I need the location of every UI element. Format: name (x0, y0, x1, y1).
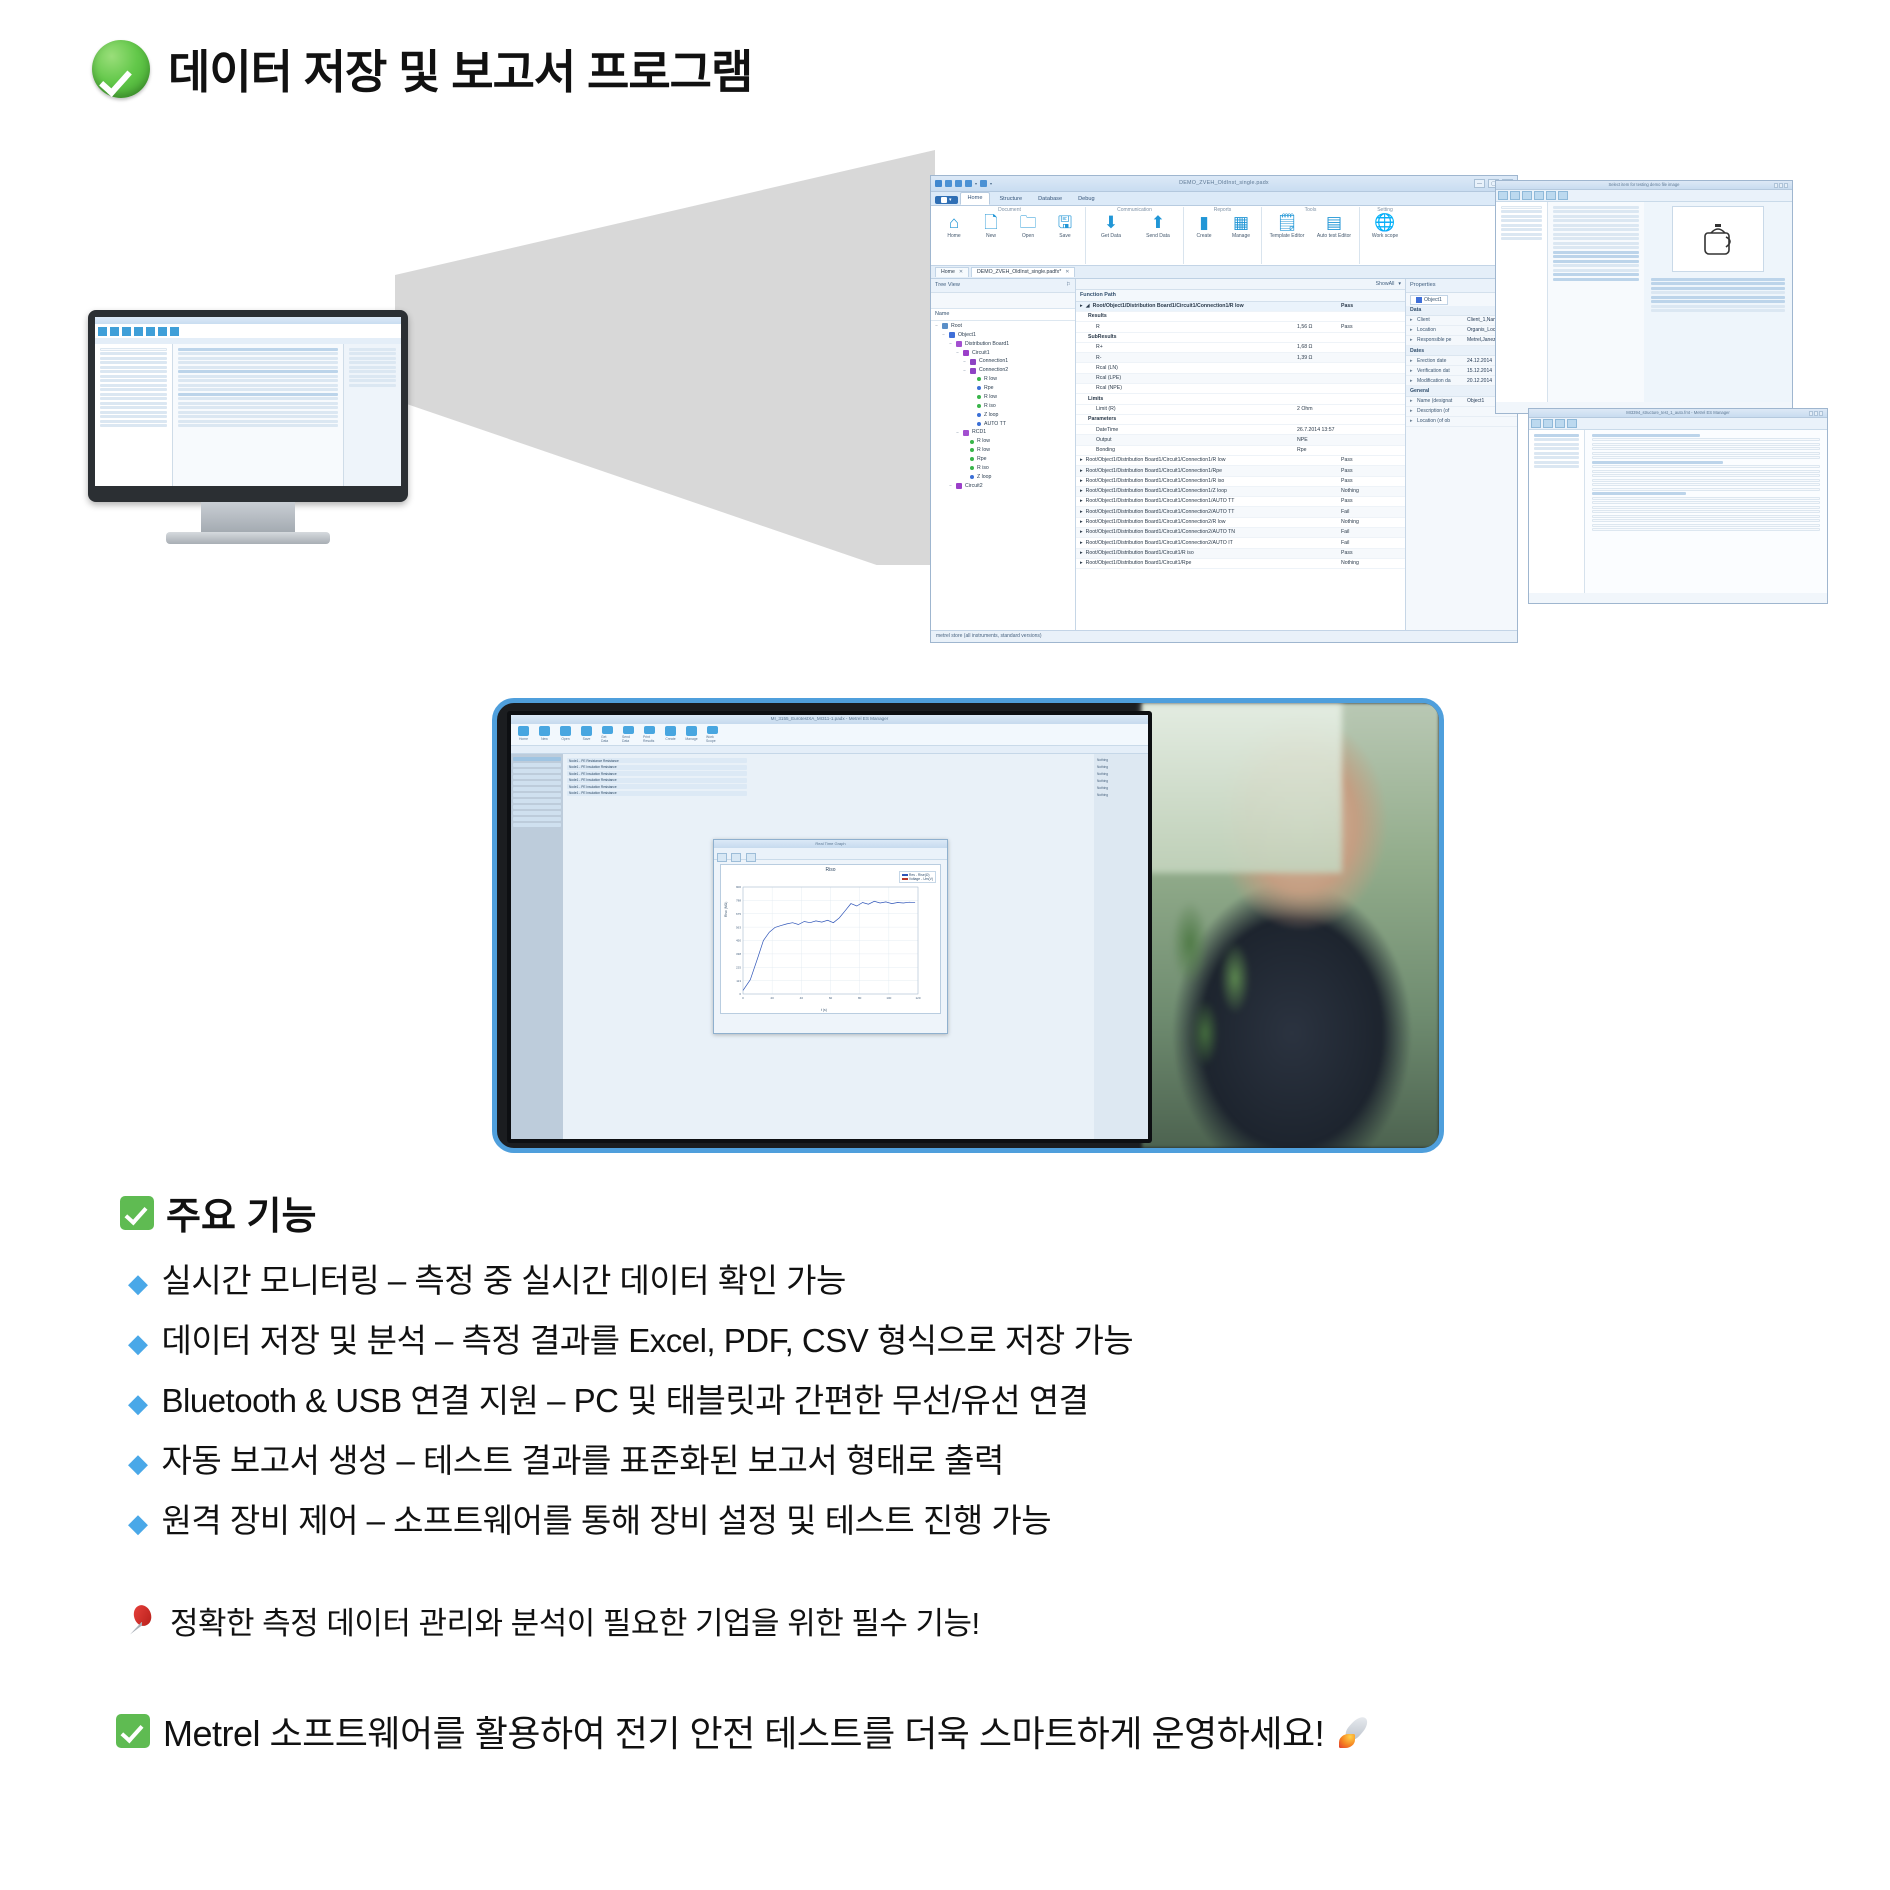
photo-new-button[interactable]: New (538, 726, 551, 743)
manage-grid-icon (686, 726, 697, 736)
close-button[interactable] (1784, 183, 1788, 188)
image-picker-toolbar[interactable] (1496, 190, 1792, 202)
tree-node-label: Connection2 (979, 367, 1008, 374)
open-icon[interactable] (1498, 191, 1508, 200)
tree-node[interactable]: R low (931, 393, 1075, 402)
svg-text:450: 450 (736, 939, 741, 943)
row-expander-icon[interactable]: ▸ (1080, 457, 1083, 464)
tree-view-pane: Tree View ⚐ Name −Root−Object1−Distribut… (931, 279, 1076, 630)
closed-icon[interactable] (1558, 191, 1568, 200)
document-tab-strip[interactable]: Home ✕ DEMO_ZVEH_OldInst_single.padfx* ✕ (931, 266, 1517, 279)
page-title-row: 데이터 저장 및 보고서 프로그램 (92, 36, 752, 102)
detail-row-status (1341, 355, 1401, 362)
create-report-button[interactable]: ▮Create (1188, 214, 1220, 239)
row-status: Fail (1341, 529, 1401, 536)
save-icon[interactable] (1510, 191, 1520, 200)
blue-diamond-icon: ◆ (128, 1390, 148, 1416)
structure-field-list[interactable] (1585, 430, 1827, 593)
structure-tree[interactable] (1529, 430, 1585, 593)
photo-result-item[interactable]: Node1 - PE Insulation Resistance (567, 771, 747, 776)
white-check-mark-icon (120, 1196, 154, 1230)
create-report-icon (665, 726, 676, 736)
new-button-label: New (986, 233, 996, 239)
feature-bullet: ◆데이터 저장 및 분석 – 측정 결과를 Excel, PDF, CSV 형식… (128, 1314, 1890, 1362)
chart-plot-area: Riso Res - Rise(Ω) Voltage - Um(V) 90078… (720, 864, 941, 1014)
table-row[interactable]: ▸Root/Object1/Distribution Board1/Circui… (1076, 559, 1405, 569)
table-row[interactable]: ▸Root/Object1/Distribution Board1/Circui… (1076, 456, 1405, 466)
properties-expander-icon[interactable]: ▸ (1410, 408, 1415, 414)
ribbon-group-document-label: Document (998, 207, 1021, 213)
photo-save-button[interactable]: Save (580, 726, 593, 743)
svg-text:100: 100 (886, 996, 891, 1000)
add-image-icon[interactable] (1534, 191, 1544, 200)
table-row[interactable]: ▸Root/Object1/Distribution Board1/Circui… (1076, 477, 1405, 487)
auto-test-editor-label: Auto test Editor (1317, 233, 1351, 239)
detail-row-status (1341, 406, 1401, 413)
ribbon-toolbar[interactable]: Document ⌂Home 🗋New 🗀Open 🖫Save Communic… (931, 206, 1517, 266)
tree-node-label: Z loop (977, 474, 991, 481)
tree-node-label: Z loop (984, 412, 998, 419)
image-picker-window-controls[interactable] (1774, 183, 1790, 188)
close-button[interactable] (1819, 411, 1823, 416)
app-window-title: DEMO_ZVEH_OldInst_single.padx (931, 180, 1517, 187)
tree-node[interactable]: −Connection1 (931, 357, 1075, 366)
tab-database[interactable]: Database (1031, 194, 1069, 205)
maximize-button[interactable] (1779, 183, 1783, 188)
photo-send-data-button[interactable]: Send Data (622, 726, 635, 743)
download-arrow-icon (602, 726, 613, 734)
photo-open-button[interactable]: Open (559, 726, 572, 743)
tree-expander-icon[interactable]: − (955, 430, 960, 436)
properties-expander-icon[interactable]: ▸ (1410, 368, 1415, 374)
desktop-monitor (88, 310, 408, 540)
tree-pin-icon[interactable]: ⚐ (1066, 282, 1071, 289)
chart-toolbar[interactable] (714, 848, 947, 860)
detail-row-status (1341, 365, 1401, 372)
chart-titlebar: Real Time Graph (714, 840, 947, 848)
tree-node[interactable]: R low (931, 375, 1075, 384)
row-status: Pass (1341, 550, 1401, 557)
detail-section-header: Parameters (1076, 415, 1405, 425)
photo-result-item[interactable]: Node1 - PE Insulation Resistance (567, 778, 747, 783)
legend-swatch-res (902, 874, 908, 876)
features-heading-row: 주요 기능 (120, 1185, 1890, 1240)
table-row[interactable]: ▸Root/Object1/Distribution Board1/Circui… (1076, 507, 1405, 517)
ribbon-group-reports-label: Reports (1214, 207, 1232, 213)
structure-manager-window: MI3394_structure_test_1_auto.fmt - Metre… (1528, 408, 1828, 604)
properties-key: Description (of (1417, 408, 1465, 414)
tree-node[interactable]: R iso (931, 402, 1075, 411)
photo-result-item[interactable]: Node1 - PE Insulation Resistance (567, 765, 747, 770)
maximize-button[interactable] (1814, 411, 1818, 416)
tree-node[interactable]: Z loop (931, 473, 1075, 482)
ribbon-group-communication-label: Communication (1117, 207, 1152, 213)
photo-home-button[interactable]: Home (517, 726, 530, 743)
tree-node-label: Distribution Board1 (965, 341, 1009, 348)
row-path: Root/Object1/Distribution Board1/Circuit… (1086, 498, 1235, 505)
row-status: Nothing (1341, 519, 1401, 526)
row-status: Nothing (1341, 560, 1401, 567)
properties-expander-icon[interactable]: ▸ (1410, 337, 1415, 343)
person-at-desk (1142, 703, 1439, 1148)
monitor-screen (95, 317, 401, 486)
doc-tab-home-close-icon[interactable]: ✕ (959, 269, 963, 275)
minimize-button[interactable]: — (1474, 179, 1485, 188)
photo-status-list: NothingNothingNothingNothingNothingNothi… (1094, 754, 1148, 804)
image-picker-window: Select item for testing demo file image (1495, 180, 1793, 414)
upload-arrow-icon (623, 726, 634, 734)
template-editor-icon: 🗒 (1276, 214, 1298, 232)
photo-status-item: Nothing (1097, 765, 1145, 769)
pass-dot-icon (977, 395, 981, 399)
note-row: 정확한 측정 데이터 관리와 분석이 필요한 기업을 위한 필수 기능! (128, 1598, 1890, 1643)
tree-view-title: Tree View (935, 282, 960, 289)
photo-status-item: Nothing (1097, 793, 1145, 797)
detail-row-value (1297, 365, 1341, 372)
detail-row-value: Rpe (1297, 447, 1341, 454)
new-run-data-icon[interactable] (746, 853, 756, 862)
doc-tab-file-label: DEMO_ZVEH_OldInst_single.padfx* (977, 269, 1061, 276)
row-expander-icon[interactable]: ▸ (1080, 529, 1083, 536)
table-row[interactable]: ▸Root/Object1/Distribution Board1/Circui… (1076, 487, 1405, 497)
detail-row-key: Rcal (NPE) (1080, 385, 1297, 392)
blue-diamond-icon: ◆ (128, 1270, 148, 1296)
photo-work-scope-button[interactable]: Work Scope (706, 726, 719, 743)
save-icon[interactable] (731, 853, 741, 862)
tree-node[interactable]: −Object1 (931, 331, 1075, 340)
tree-expander-icon[interactable]: − (941, 332, 946, 338)
file-menu-button[interactable]: ▾ (935, 196, 958, 204)
send-data-label: Send Data (1146, 233, 1170, 239)
table-row[interactable]: ▸Root/Object1/Distribution Board1/Circui… (1076, 528, 1405, 538)
collapse-icon[interactable]: ◢ (1086, 303, 1090, 310)
photo-app-body: Node1 - PE Resistance ResistanceNode1 - … (511, 754, 1148, 1139)
photo-status-item: Nothing (1097, 786, 1145, 790)
row-expander-icon[interactable]: ▸ (1080, 519, 1083, 526)
properties-expander-icon[interactable]: ▸ (1410, 358, 1415, 364)
svg-text:900: 900 (736, 885, 741, 889)
selected-row-path: Root/Object1/Distribution Board1/Circuit… (1093, 303, 1244, 310)
photo-app-ribbon[interactable]: Home New Open Save Get Data Send Data Pr… (511, 724, 1148, 746)
new-document-icon: 🗋 (984, 214, 998, 232)
save-button[interactable]: 🖫Save (1049, 214, 1081, 239)
photo-print-button[interactable]: Print Results (643, 726, 656, 743)
photo-app-titlebar: MI_3155_EurotestXA_MI311-1.padx - Metrel… (511, 715, 1148, 724)
monitor-bezel (88, 310, 408, 502)
row-status: Pass (1341, 498, 1401, 505)
properties-object-tab[interactable]: Object1 (1410, 295, 1448, 306)
row-path: Root/Object1/Distribution Board1/Circuit… (1086, 488, 1227, 495)
image-picker-fields[interactable] (1548, 202, 1644, 402)
results-column-function-path: Function Path (1080, 292, 1341, 299)
tree-filter-box[interactable] (931, 293, 1075, 309)
auto-test-editor-button[interactable]: ▤Auto test Editor (1313, 214, 1355, 239)
row-path: Root/Object1/Distribution Board1/Circuit… (1086, 457, 1226, 464)
properties-key: Verification dat (1417, 368, 1465, 374)
properties-expander-icon[interactable]: ▸ (1410, 378, 1415, 384)
detail-row-value (1297, 375, 1341, 382)
file-menu-icon (941, 197, 947, 203)
globe-icon: 🌐 (1374, 214, 1395, 232)
row-expander-icon[interactable]: ▸ (1080, 488, 1083, 495)
structure-manager-window-controls[interactable] (1809, 411, 1825, 416)
feature-bullet: ◆원격 장비 제어 – 소프트웨어를 통해 장비 설정 및 테스트 진행 가능 (128, 1494, 1890, 1542)
row-status: Pass (1341, 478, 1401, 485)
row-expander-icon[interactable]: ▸ (1080, 560, 1083, 567)
doc-tab-home[interactable]: Home ✕ (935, 267, 969, 277)
tree-expander-icon[interactable]: − (962, 368, 967, 374)
tree-node-list[interactable]: −Root−Object1−Distribution Board1−Circui… (931, 321, 1075, 630)
svg-text:0: 0 (742, 996, 744, 1000)
feature-bullet-text: 자동 보고서 생성 – 테스트 결과를 표준화된 보고서 형태로 출력 (162, 1434, 1004, 1482)
home-button-label: Home (947, 233, 960, 239)
tree-expander-icon[interactable]: − (948, 483, 953, 489)
detail-row-value: 2 Ohm (1297, 406, 1341, 413)
properties-key: Location (of ob (1417, 418, 1465, 424)
info-dot-icon (977, 386, 981, 390)
feature-bullet-text: 원격 장비 제어 – 소프트웨어를 통해 장비 설정 및 테스트 진행 가능 (162, 1494, 1052, 1542)
detail-row: R-1,39 Ω (1076, 353, 1405, 363)
doc-tab-file[interactable]: DEMO_ZVEH_OldInst_single.padfx* ✕ (971, 267, 1075, 277)
pass-dot-icon (970, 457, 974, 461)
tree-node-label: Circuit2 (965, 483, 983, 490)
tree-expander-icon[interactable]: − (955, 350, 960, 356)
svg-text:113: 113 (736, 979, 741, 983)
metrel-es-manager-window: ▾ ▾ DEMO_ZVEH_OldInst_single.padx — ▢ ✕ … (930, 175, 1518, 643)
properties-expander-icon[interactable]: ▸ (1410, 398, 1415, 404)
detail-row-key: Rcal (LN) (1080, 365, 1297, 372)
close-icon[interactable] (1522, 191, 1532, 200)
properties-expander-icon[interactable]: ▸ (1410, 418, 1415, 424)
office-plant (1160, 883, 1280, 1113)
tab-home[interactable]: Home (960, 192, 991, 205)
pass-dot-icon (970, 466, 974, 470)
circuit-icon (956, 483, 962, 489)
tree-node[interactable]: −Circuit2 (931, 481, 1075, 490)
send-data-button[interactable]: ⬆Send Data (1137, 214, 1179, 239)
tree-node[interactable]: Rpe (931, 455, 1075, 464)
svg-text:675: 675 (736, 912, 741, 916)
svg-text:0: 0 (739, 992, 741, 996)
doc-tab-home-label: Home (941, 269, 955, 276)
photo-status-pane[interactable]: NothingNothingNothingNothingNothingNothi… (1094, 754, 1148, 1139)
show-all-chevron-down-icon[interactable]: ▾ (1398, 281, 1401, 288)
properties-object-tab-label: Object1 (1424, 297, 1442, 304)
create-label: Create (1196, 233, 1211, 239)
photo-results-pane[interactable]: Node1 - PE Resistance ResistanceNode1 - … (563, 754, 1094, 1139)
image-picker-title: Select item for testing demo file image (1496, 182, 1792, 187)
photo-status-item: Nothing (1097, 758, 1145, 762)
get-data-button[interactable]: ⬇Get Data (1090, 214, 1132, 239)
open-button[interactable]: 🗀Open (1012, 214, 1044, 239)
white-check-mark-icon (116, 1714, 150, 1748)
photo-monitor: MI_3155_EurotestXA_MI311-1.padx - Metrel… (507, 711, 1152, 1143)
tab-debug[interactable]: Debug (1071, 194, 1101, 205)
file-icon[interactable] (1531, 419, 1541, 428)
row-expander-icon[interactable]: ▸ (1080, 478, 1083, 485)
photo-get-data-button[interactable]: Get Data (601, 726, 614, 743)
properties-expander-icon[interactable]: ▸ (1410, 327, 1415, 333)
tab-structure[interactable]: Structure (992, 194, 1029, 205)
selected-row-status: Pass (1341, 303, 1401, 310)
home-button[interactable]: ⌂Home (938, 214, 970, 239)
work-scope-button[interactable]: 🌐Work scope (1364, 214, 1406, 239)
feature-content: 주요 기능 ◆실시간 모니터링 – 측정 중 실시간 데이터 확인 가능◆데이터… (0, 1185, 1890, 1757)
tree-node[interactable]: Z loop (931, 410, 1075, 419)
chart-xlabel: t (s) (821, 1008, 827, 1012)
table-row[interactable]: ▸Root/Object1/Distribution Board1/Circui… (1076, 549, 1405, 559)
properties-expander-icon[interactable]: ▸ (1410, 317, 1415, 323)
results-filter-bar[interactable]: ShowAll ▾ (1076, 279, 1405, 290)
row-path: Root/Object1/Distribution Board1/Circuit… (1086, 550, 1194, 557)
save-button-label: Save (1059, 233, 1070, 239)
info-dot-icon (977, 413, 981, 417)
results-row-list[interactable]: ▸Root/Object1/Distribution Board1/Circui… (1076, 456, 1405, 569)
detail-row: Limit (R)2 Ohm (1076, 405, 1405, 415)
photo-monitor-screen: MI_3155_EurotestXA_MI311-1.padx - Metrel… (511, 715, 1148, 1139)
new-document-icon (539, 726, 550, 736)
tree-node[interactable]: −Distribution Board1 (931, 339, 1075, 348)
pass-dot-icon (977, 404, 981, 408)
detail-section-header: Results (1076, 312, 1405, 322)
table-row[interactable]: ▸Root/Object1/Distribution Board1/Circui… (1076, 538, 1405, 548)
detail-section-label: Parameters (1080, 416, 1341, 423)
feature-bullet: ◆자동 보고서 생성 – 테스트 결과를 표준화된 보고서 형태로 출력 (128, 1434, 1890, 1482)
tree-view-header: Tree View ⚐ (931, 279, 1075, 293)
closing-text: Metrel 소프트웨어를 활용하여 전기 안전 테스트를 더욱 스마트하게 운… (163, 1705, 1324, 1757)
green-check-circle-icon (92, 40, 150, 98)
photo-result-item[interactable]: Node1 - PE Insulation Resistance (567, 784, 747, 789)
row-expander-icon[interactable]: ▸ (1080, 498, 1083, 505)
tree-node-label: Object1 (958, 332, 976, 339)
template-editor-button[interactable]: 🗒Template Editor (1266, 214, 1308, 239)
tree-node[interactable]: −Root (931, 322, 1075, 331)
row-expander-icon[interactable]: ▸ (1080, 509, 1083, 516)
table-row[interactable]: ▸Root/Object1/Distribution Board1/Circui… (1076, 466, 1405, 476)
row-path: Root/Object1/Distribution Board1/Circuit… (1086, 529, 1235, 536)
tree-node[interactable]: R low (931, 437, 1075, 446)
tree-node-label: R iso (984, 403, 996, 410)
tree-node[interactable]: Rpe (931, 384, 1075, 393)
tree-node[interactable]: R iso (931, 464, 1075, 473)
photo-app-title: MI_3155_EurotestXA_MI311-1.padx - Metrel… (511, 716, 1148, 721)
work-scope-label: Work scope (1372, 233, 1398, 239)
doc-tab-file-close-icon[interactable]: ✕ (1065, 269, 1069, 275)
detail-row: Rcal (NPE) (1076, 384, 1405, 394)
connection-icon (970, 368, 976, 374)
ribbon-tab-strip[interactable]: ▾ Home Structure Database Debug (931, 192, 1517, 206)
photo-result-item[interactable]: Node1 - PE Resistance Resistance (567, 758, 747, 763)
features-heading: 주요 기능 (166, 1185, 316, 1240)
photo-doc-tabs[interactable] (511, 746, 1148, 754)
minimize-button[interactable] (1774, 183, 1778, 188)
tree-node[interactable]: −Circuit1 (931, 348, 1075, 357)
row-status: Fail (1341, 509, 1401, 516)
row-expander-icon[interactable]: ▸ (1080, 468, 1083, 475)
photo-result-item[interactable]: Node1 - PE Insulation Resistance (567, 791, 747, 796)
app-body: Tree View ⚐ Name −Root−Object1−Distribut… (931, 279, 1517, 630)
rocket-icon (1337, 1712, 1375, 1750)
monitor-base (166, 532, 330, 544)
detail-row-status (1341, 427, 1401, 434)
info-dot-icon (970, 475, 974, 479)
tree-node[interactable]: −Connection2 (931, 366, 1075, 375)
home-icon: ⌂ (949, 214, 959, 232)
photo-result-item-list[interactable]: Node1 - PE Resistance ResistanceNode1 - … (567, 758, 747, 797)
chart-ylabel: Riso (MΩ) (724, 902, 728, 917)
root-icon (942, 323, 948, 329)
ribbon-group-tools: Tools 🗒Template Editor ▤Auto test Editor (1262, 207, 1360, 264)
delete-icon[interactable] (1546, 191, 1556, 200)
expander-icon[interactable]: ▸ (1080, 303, 1083, 310)
structure-manager-toolbar[interactable] (1529, 418, 1827, 430)
row-path: Root/Object1/Distribution Board1/Circuit… (1086, 509, 1235, 516)
detail-row: R+1,68 Ω (1076, 343, 1405, 353)
closing-row: Metrel 소프트웨어를 활용하여 전기 안전 테스트를 더욱 스마트하게 운… (116, 1705, 1890, 1757)
edit-icon[interactable] (1543, 419, 1553, 428)
image-picker-left-list[interactable] (1496, 202, 1548, 402)
blue-diamond-icon: ◆ (128, 1510, 148, 1536)
row-expander-icon[interactable]: ▸ (1080, 550, 1083, 557)
manage-report-button[interactable]: ▦Manage (1225, 214, 1257, 239)
ribbon-group-tools-label: Tools (1305, 207, 1317, 213)
pass-dot-icon (977, 377, 981, 381)
window-icon[interactable] (1567, 419, 1577, 428)
structure-manager-title: MI3394_structure_test_1_auto.fmt - Metre… (1529, 410, 1827, 415)
row-path: Root/Object1/Distribution Board1/Circuit… (1086, 540, 1233, 547)
open-folder-icon: 🗀 (1020, 214, 1037, 232)
tree-node[interactable]: −RCD1 (931, 428, 1075, 437)
tree-node-label: R low (984, 394, 997, 401)
detail-row-key: Output (1080, 437, 1297, 444)
chart-legend: Res - Rise(Ω) Voltage - Um(V) (899, 871, 936, 883)
tree-node-label: AUTO TT (984, 421, 1006, 428)
tree-expander-icon[interactable]: − (934, 323, 939, 329)
print-icon (644, 726, 655, 734)
tree-node[interactable]: AUTO TT (931, 419, 1075, 428)
feature-bullet: ◆Bluetooth & USB 연결 지원 – PC 및 태블릿과 간편한 무… (128, 1374, 1890, 1422)
feature-bullet: ◆실시간 모니터링 – 측정 중 실시간 데이터 확인 가능 (128, 1254, 1890, 1302)
photo-create-button[interactable]: Create (664, 726, 677, 743)
print-icon[interactable] (717, 853, 727, 862)
tree-expander-icon[interactable]: − (962, 359, 967, 365)
tree-expander-icon[interactable]: − (948, 341, 953, 347)
table-row[interactable]: ▸Root/Object1/Distribution Board1/Circui… (1076, 518, 1405, 528)
structure-manager-titlebar: MI3394_structure_test_1_auto.fmt - Metre… (1529, 409, 1827, 418)
minimize-button[interactable] (1809, 411, 1813, 416)
table-row[interactable]: ▸Root/Object1/Distribution Board1/Circui… (1076, 497, 1405, 507)
tree-node-label: Rpe (984, 385, 994, 392)
results-column-status (1341, 292, 1401, 299)
results-selected-row[interactable]: ▸◢Root/Object1/Distribution Board1/Circu… (1076, 302, 1405, 312)
tree-node-label: Root (951, 323, 962, 330)
properties-key: Client (1417, 317, 1465, 323)
detail-row-key: Limit (R) (1080, 406, 1297, 413)
new-button[interactable]: 🗋New (975, 214, 1007, 239)
pass-dot-icon (970, 440, 974, 444)
photo-manage-button[interactable]: Manage (685, 726, 698, 743)
detail-row-key: DateTime (1080, 427, 1297, 434)
detail-row-key: Bonding (1080, 447, 1297, 454)
tree-node[interactable]: R low (931, 446, 1075, 455)
view-icon[interactable] (1555, 419, 1565, 428)
photo-tree-pane[interactable] (511, 754, 563, 1139)
detail-row: Rcal (LPE) (1076, 374, 1405, 384)
row-expander-icon[interactable]: ▸ (1080, 540, 1083, 547)
tree-node-label: R low (977, 438, 990, 445)
detail-section-label: Limits (1080, 396, 1341, 403)
properties-row[interactable]: ▸Location (of ob (1406, 417, 1517, 427)
